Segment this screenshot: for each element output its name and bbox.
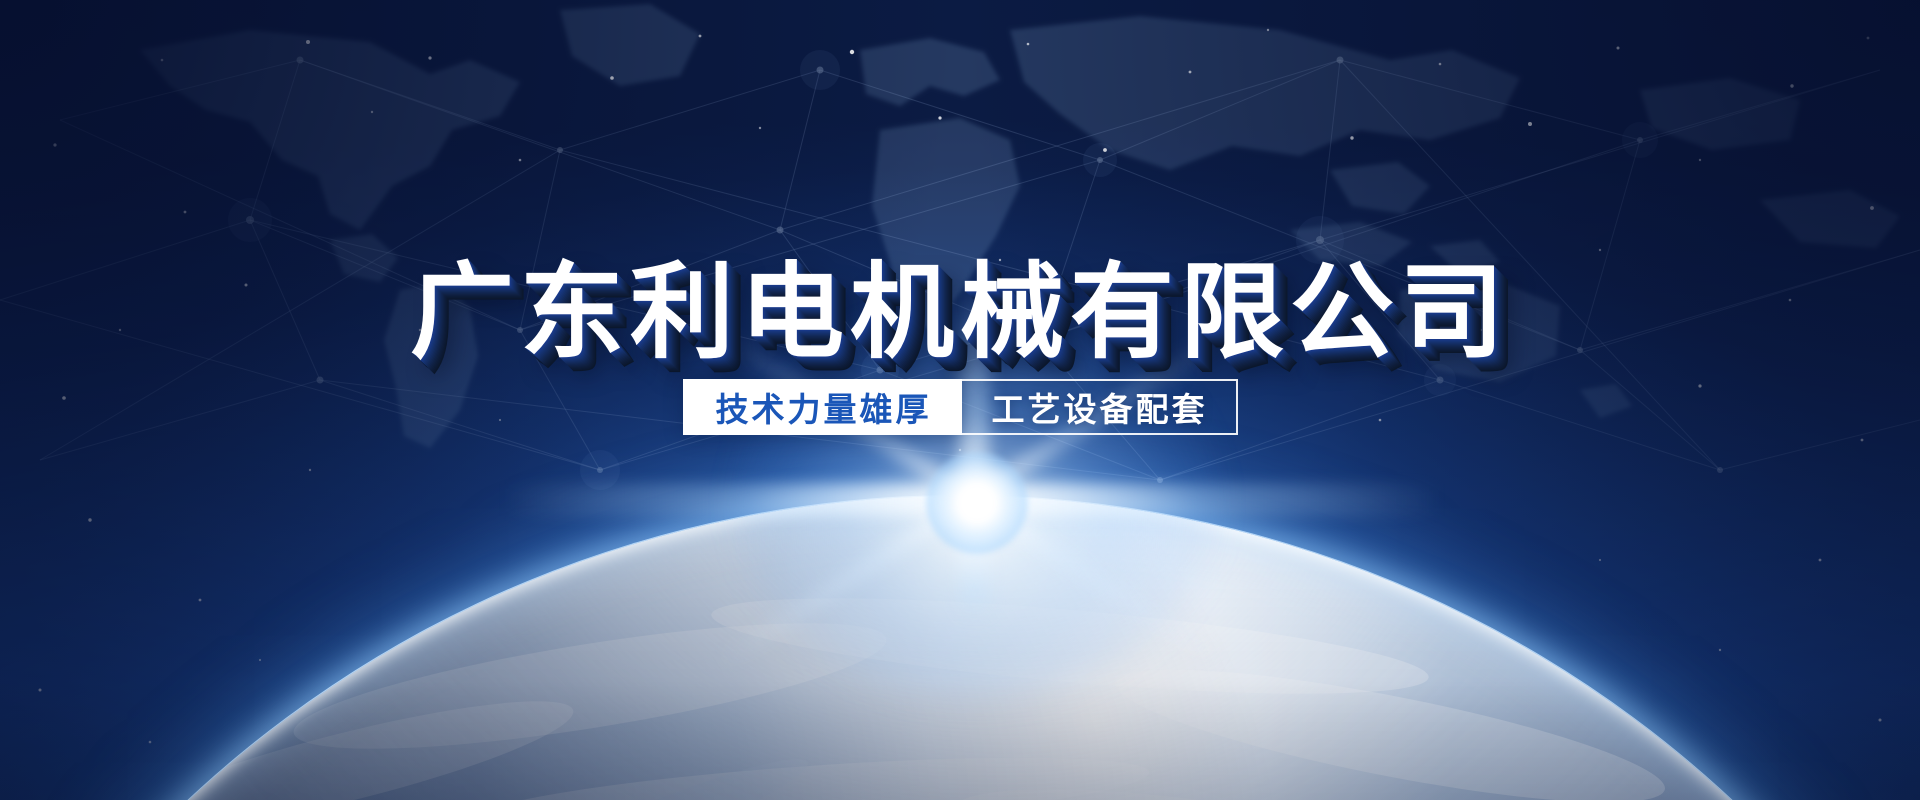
tagline-technical-strength-label: 技术力量雄厚 <box>716 383 932 431</box>
company-title: 广东利电机械有限公司 <box>410 256 1510 368</box>
tagline-equipment-support-label: 工艺设备配套 <box>992 383 1208 431</box>
tagline-equipment-support: 工艺设备配套 <box>962 379 1238 435</box>
banner-content: 广东利电机械有限公司 技术力量雄厚 工艺设备配套 <box>0 0 1920 800</box>
tagline-row: 技术力量雄厚 工艺设备配套 <box>0 379 1920 435</box>
tagline-technical-strength: 技术力量雄厚 <box>683 379 962 435</box>
hero-banner: 广东利电机械有限公司 技术力量雄厚 工艺设备配套 <box>0 0 1920 800</box>
